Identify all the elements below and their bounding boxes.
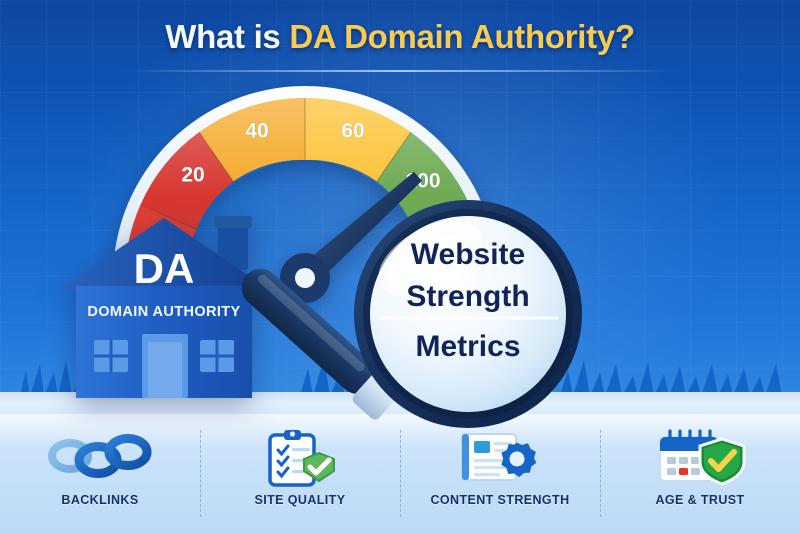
feature-site-quality[interactable]: SITE QUALITY xyxy=(200,424,400,533)
calendar-shield-icon xyxy=(654,430,746,486)
page-title-prefix: What is xyxy=(165,18,289,55)
feature-label-site-quality: SITE QUALITY xyxy=(255,493,346,507)
document-gear-icon xyxy=(458,430,542,486)
gauge-tick-60: 60 xyxy=(341,120,364,143)
magnifier-line-2: Strength xyxy=(406,280,529,313)
house-acronym: DA xyxy=(134,245,195,292)
feature-backlinks[interactable]: BACKLINKS xyxy=(0,424,200,533)
feature-label-age-trust: AGE & TRUST xyxy=(655,493,744,507)
title-divider xyxy=(120,70,680,72)
clipboard-check-icon xyxy=(262,430,338,486)
gauge-tick-40: 40 xyxy=(245,120,268,143)
page-title-highlight: DA Domain Authority? xyxy=(289,18,634,55)
magnifier-line-1: Website xyxy=(411,238,525,271)
feature-age-trust[interactable]: AGE & TRUST xyxy=(600,424,800,533)
feature-label-backlinks: BACKLINKS xyxy=(61,493,138,507)
gauge-tick-20: 20 xyxy=(181,164,204,187)
infographic-canvas: What is DA Domain Authority? xyxy=(0,0,800,533)
feature-list: BACKLINKS xyxy=(0,424,800,533)
feature-content-strength[interactable]: CONTENT STRENGTH xyxy=(400,424,600,533)
house-window-left xyxy=(94,340,128,372)
website-strength-magnifier: Website Strength Metrics xyxy=(188,196,638,428)
feature-label-content-strength: CONTENT STRENGTH xyxy=(430,493,569,507)
magnifier-line-3: Metrics xyxy=(415,330,520,363)
page-title: What is DA Domain Authority? xyxy=(0,18,800,56)
shield-icon xyxy=(700,439,744,484)
chain-links-icon xyxy=(48,430,152,486)
house-door-panel xyxy=(148,342,182,398)
